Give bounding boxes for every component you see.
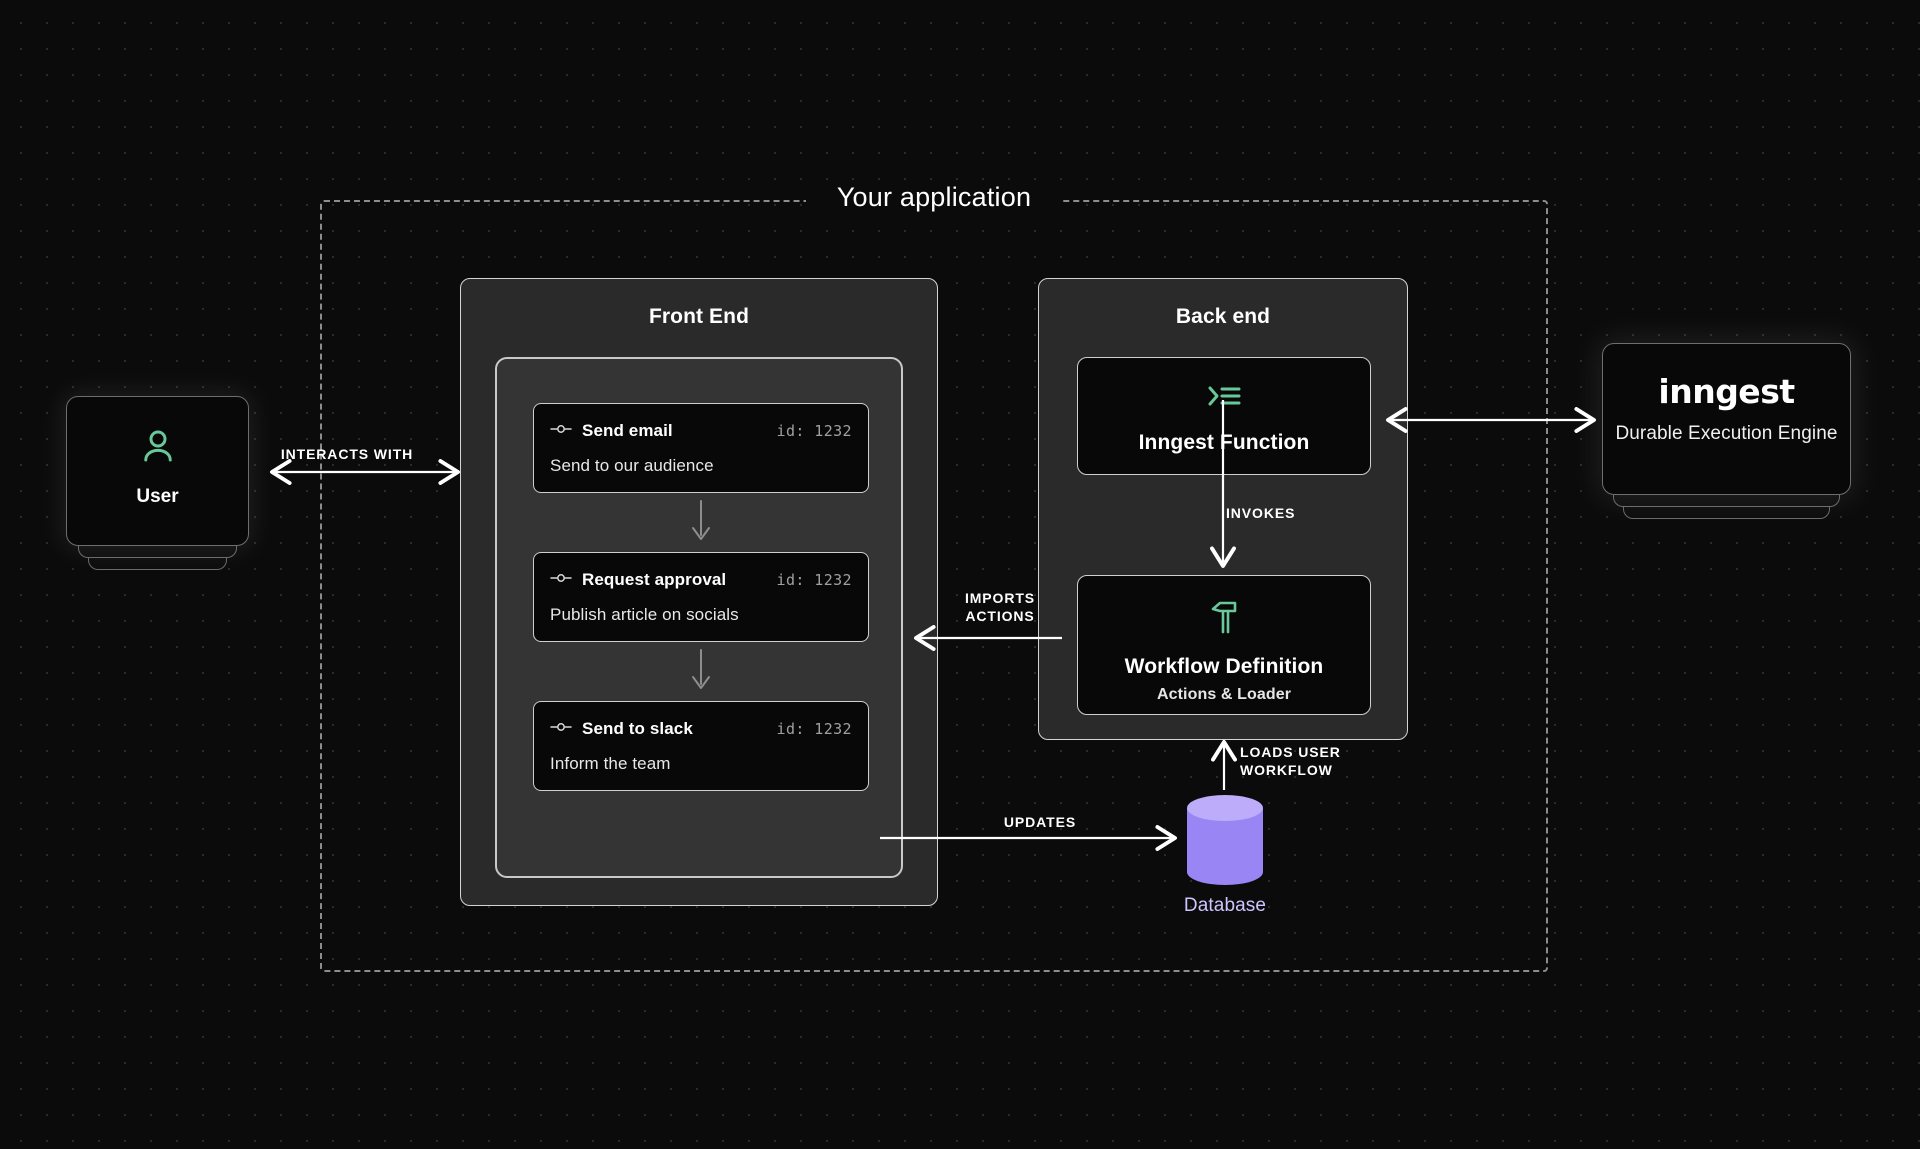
node-connector-icon — [550, 571, 572, 589]
inngest-node-stack-shadow-back — [1623, 507, 1830, 519]
user-node-stack-shadow-back — [88, 558, 227, 570]
database-bottom — [1187, 859, 1263, 885]
workflow-definition-title: Workflow Definition — [1078, 655, 1370, 679]
connector-label-interacts-with: INTERACTS WITH — [252, 446, 442, 464]
backend-panel-title: Back end — [1039, 305, 1407, 329]
inngest-node-subtitle: Durable Execution Engine — [1603, 423, 1850, 446]
workflow-action-name: Send email — [582, 421, 673, 441]
inngest-logo: inngest — [1603, 372, 1850, 411]
workflow-action-description: Send to our audience — [550, 456, 852, 476]
workflow-definition-box[interactable]: Workflow Definition Actions & Loader — [1077, 575, 1371, 715]
database-cylinder-icon[interactable] — [1187, 795, 1263, 885]
node-connector-icon — [550, 720, 572, 738]
connector-label-invokes: INVOKES — [1226, 505, 1346, 523]
user-node-stack-shadow-front — [78, 546, 237, 558]
diagram-canvas: Your application User inngest Durable Ex… — [0, 0, 1920, 1149]
workflow-action-card[interactable]: Send to slack id: 1232 Inform the team — [533, 701, 869, 791]
database-label: Database — [1140, 895, 1310, 917]
inngest-node[interactable]: inngest Durable Execution Engine — [1602, 343, 1851, 495]
connector-label-loads-user-workflow: LOADS USER WORKFLOW — [1240, 744, 1380, 779]
workflow-flow-arrow — [683, 499, 719, 550]
connector-label-updates: UPDATES — [970, 814, 1110, 832]
terminal-prompt-icon — [1078, 380, 1370, 417]
inngest-node-stack-shadow-front — [1613, 495, 1840, 507]
workflow-definition-subtitle: Actions & Loader — [1078, 686, 1370, 704]
person-icon — [137, 454, 179, 471]
user-node-label: User — [67, 486, 248, 508]
node-connector-icon — [550, 422, 572, 440]
workflow-action-id: id: 1232 — [777, 571, 852, 589]
workflow-action-name: Send to slack — [582, 719, 693, 739]
workflow-flow-arrow — [683, 648, 719, 699]
workflow-action-description: Inform the team — [550, 754, 852, 774]
workflow-action-name: Request approval — [582, 570, 726, 590]
application-boundary-label: Your application — [806, 180, 1062, 215]
hammer-icon — [1078, 598, 1370, 641]
frontend-panel-title: Front End — [461, 305, 937, 329]
inngest-function-box[interactable]: Inngest Function — [1077, 357, 1371, 475]
database-top — [1187, 795, 1263, 821]
workflow-editor-container: Send email id: 1232 Send to our audience — [495, 357, 903, 878]
workflow-action-id: id: 1232 — [777, 720, 852, 738]
workflow-action-card[interactable]: Send email id: 1232 Send to our audience — [533, 403, 869, 493]
workflow-action-card[interactable]: Request approval id: 1232 Publish articl… — [533, 552, 869, 642]
user-node[interactable]: User — [66, 396, 249, 546]
inngest-function-title: Inngest Function — [1078, 431, 1370, 455]
connector-label-imports-actions: IMPORTS ACTIONS — [930, 590, 1070, 625]
workflow-action-id: id: 1232 — [777, 422, 852, 440]
backend-panel: Back end Inngest Function Work — [1038, 278, 1408, 740]
workflow-action-description: Publish article on socials — [550, 605, 852, 625]
